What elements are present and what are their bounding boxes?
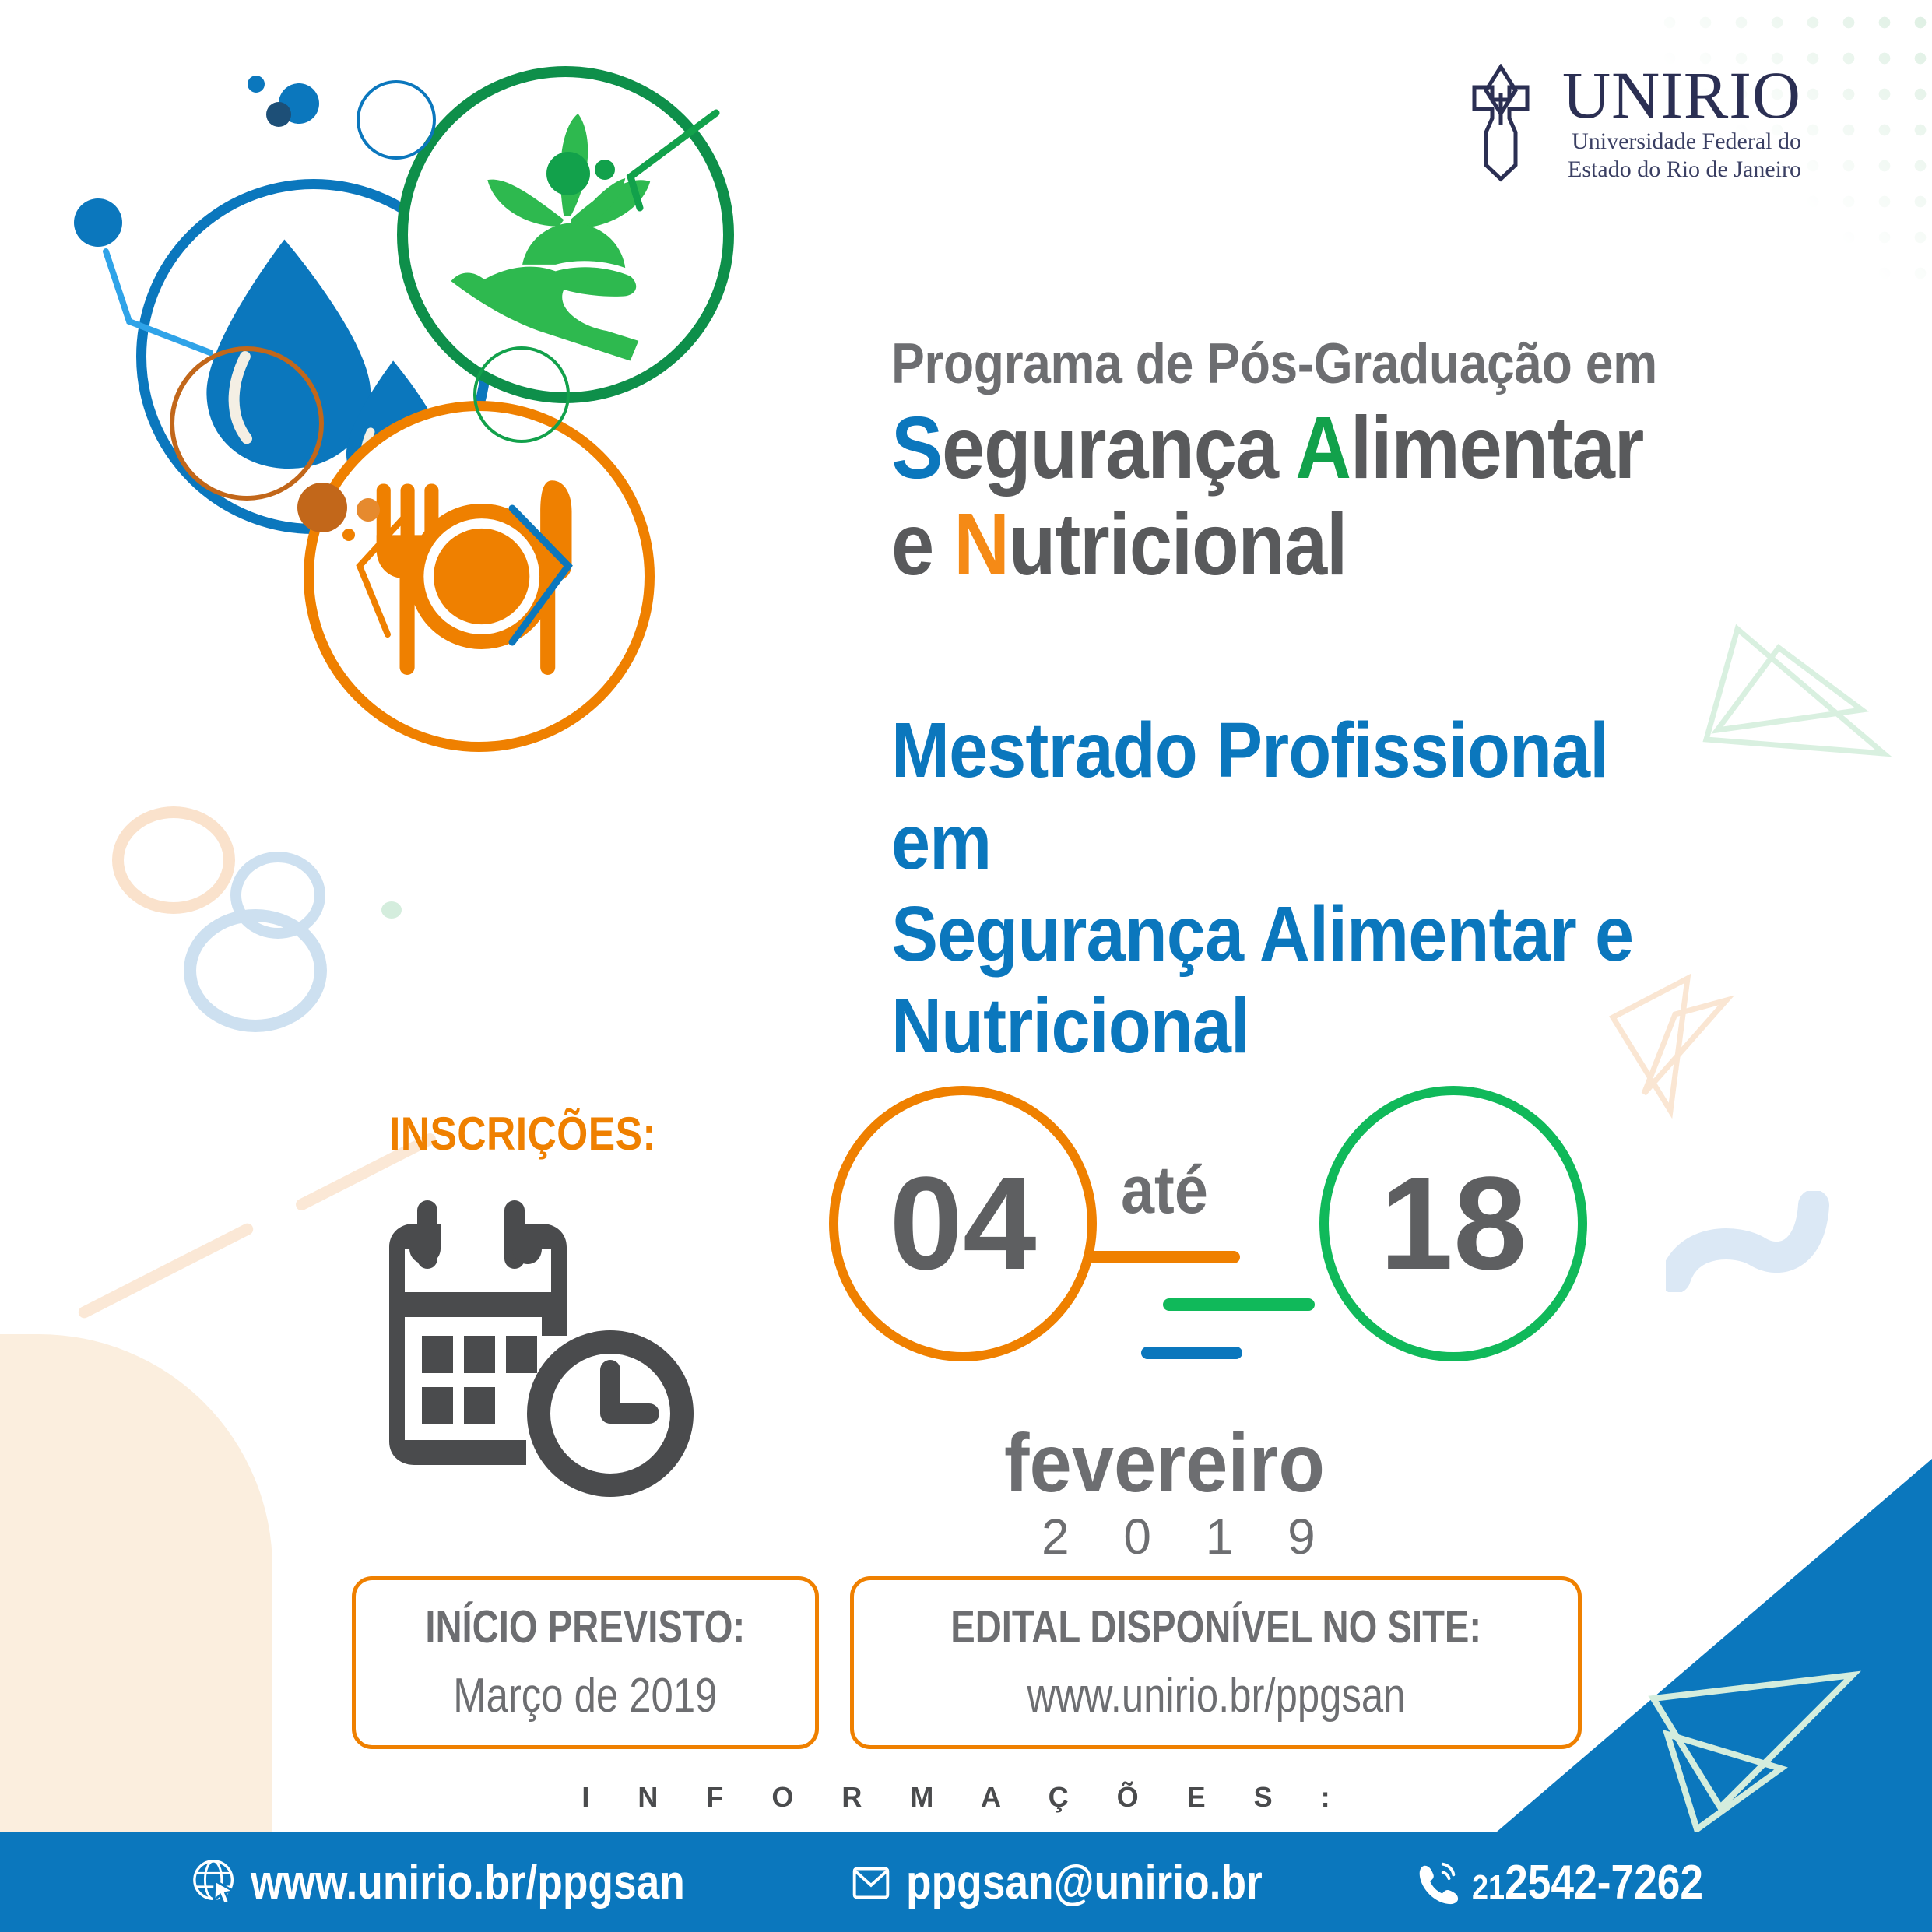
unirio-monogram-icon xyxy=(1452,64,1550,182)
date-dash-blue xyxy=(1141,1347,1242,1359)
program-name-line1: Segurança Alimentar xyxy=(891,399,1734,496)
program-initial-a: A xyxy=(1295,399,1350,497)
footer-website-text[interactable]: www.unirio.br/ppgsan xyxy=(251,1855,685,1910)
green-dot-small xyxy=(381,901,402,919)
start-info-heading: INÍCIO PREVISTO: xyxy=(426,1602,746,1653)
logo-subtitle-line2: Estado do Rio de Janeiro xyxy=(1562,156,1801,184)
program-name-seg4: utricional xyxy=(1009,495,1347,593)
cluster-connector-lines xyxy=(86,43,872,829)
poster-canvas: UNIRIO Universidade Federal do Estado do… xyxy=(0,0,1932,1932)
program-initial-s: S xyxy=(891,399,942,497)
footer-phone-number: 2542-7262 xyxy=(1505,1856,1703,1909)
program-name-line2: e Nutricional xyxy=(891,496,1734,592)
date-connector-label: até xyxy=(1121,1152,1208,1229)
course-title-line3: Nutricional xyxy=(891,980,1718,1072)
unirio-logo: UNIRIO Universidade Federal do Estado do… xyxy=(1452,64,1801,184)
logo-subtitle-line1: Universidade Federal do xyxy=(1562,128,1801,156)
footer-email-item[interactable]: ppgsan@unirio.br xyxy=(847,1855,1320,1910)
program-name-seg2: limentar xyxy=(1351,399,1643,497)
theme-icon-cluster xyxy=(86,43,872,829)
date-month: fevereiro xyxy=(1004,1424,1325,1503)
green-triangle-outline xyxy=(1697,623,1892,786)
notice-info-box[interactable]: EDITAL DISPONÍVEL NO SITE: www.unirio.br… xyxy=(850,1576,1582,1749)
notice-info-value[interactable]: www.unirio.br/ppgsan xyxy=(1027,1670,1405,1723)
footer-email-text[interactable]: ppgsan@unirio.br xyxy=(906,1855,1263,1910)
notice-info-heading: EDITAL DISPONÍVEL NO SITE: xyxy=(950,1602,1481,1653)
course-title-line2: Segurança Alimentar e xyxy=(891,888,1718,980)
start-date-circle: 04 xyxy=(829,1086,1097,1361)
start-info-box: INÍCIO PREVISTO: Março de 2019 xyxy=(352,1576,819,1749)
program-name-seg3: e xyxy=(891,495,954,593)
footer-phone-ddd: 21 xyxy=(1472,1868,1505,1906)
blue-ring-outline-large xyxy=(184,909,327,1032)
logo-wordmark: UNIRIO xyxy=(1562,64,1801,128)
information-label: I N F O R M A Ç Õ E S : xyxy=(0,1781,1932,1814)
globe-cursor-icon xyxy=(191,1858,240,1906)
footer-website-item[interactable]: www.unirio.br/ppgsan xyxy=(191,1855,756,1910)
blue-squiggle-shape xyxy=(1666,1191,1853,1292)
program-heading-block: Programa de Pós-Graduação em Segurança A… xyxy=(891,335,1849,592)
program-name-seg1: egurança xyxy=(942,399,1295,497)
end-date-circle: 18 xyxy=(1319,1086,1587,1361)
peach-corner-blob xyxy=(0,1334,272,1832)
date-dash-green xyxy=(1163,1298,1315,1311)
blue-ring-outline-small xyxy=(230,852,325,939)
date-month-year: fevereiro 2 0 1 9 xyxy=(1004,1424,1353,1565)
registration-label: INSCRIÇÕES: xyxy=(389,1107,656,1161)
course-title-line1: Mestrado Profissional em xyxy=(891,704,1718,888)
date-year: 2 0 1 9 xyxy=(1042,1508,1353,1565)
course-title: Mestrado Profissional em Segurança Alime… xyxy=(891,704,1718,1072)
start-info-value: Março de 2019 xyxy=(453,1670,717,1723)
program-kicker: Programa de Pós-Graduação em xyxy=(891,335,1734,395)
program-initial-n: N xyxy=(954,495,1008,593)
peach-stripe-lower xyxy=(76,1221,255,1320)
program-name: Segurança Alimentar e Nutricional xyxy=(891,399,1734,593)
footer-phone-text[interactable]: 212542-7262 xyxy=(1472,1855,1703,1910)
calendar-clock-icon xyxy=(381,1183,739,1502)
footer-phone-item[interactable]: 212542-7262 xyxy=(1413,1855,1741,1910)
envelope-icon xyxy=(847,1858,895,1906)
contact-footer-bar: www.unirio.br/ppgsan ppgsan@unirio.br 21… xyxy=(0,1832,1932,1932)
date-dash-orange xyxy=(1088,1251,1240,1263)
phone-ringing-icon xyxy=(1413,1858,1461,1906)
